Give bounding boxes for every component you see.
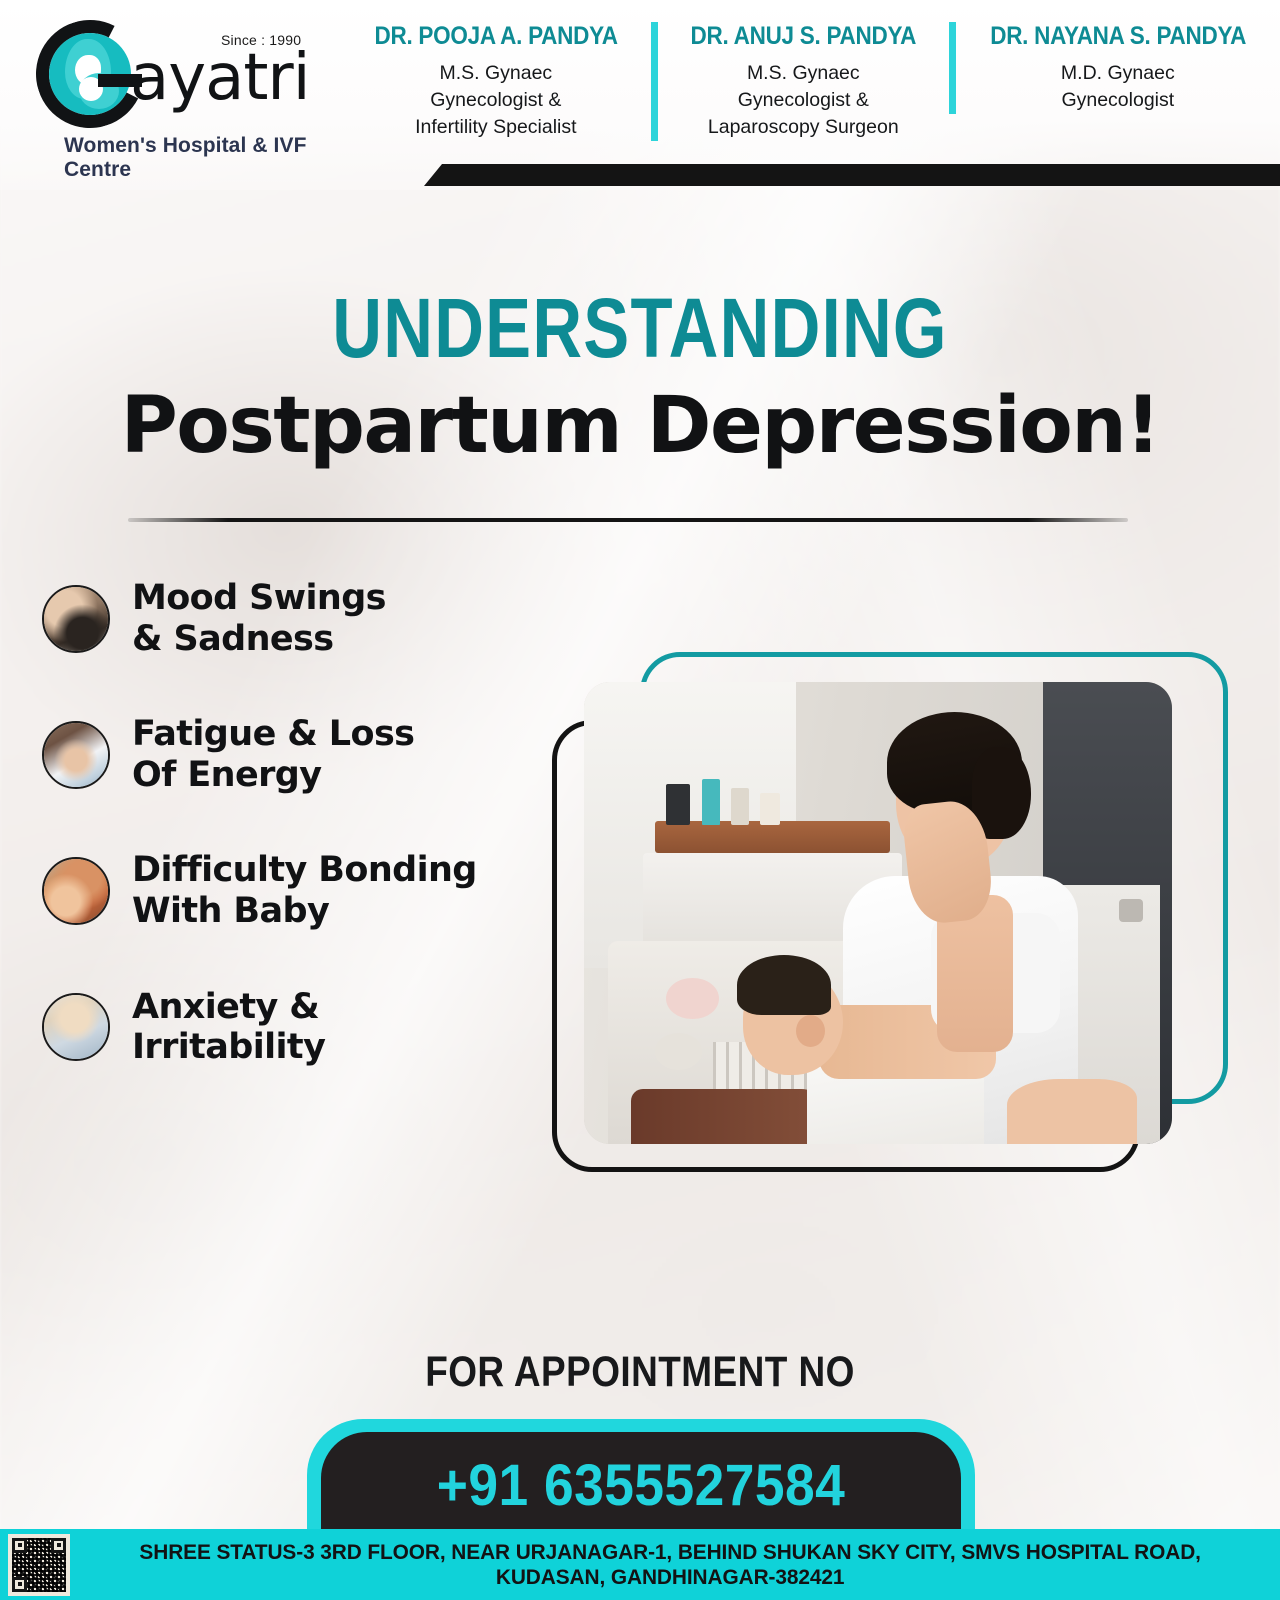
woman-tired-head-in-hands-photo bbox=[42, 721, 110, 789]
exhausted-mother-holding-baby-photo bbox=[584, 682, 1172, 1144]
symptom-list: Mood Swings & Sadness Fatigue & Loss Of … bbox=[42, 578, 582, 1068]
footer-address-bar: SHREE STATUS-3 3RD FLOOR, NEAR URJANAGAR… bbox=[0, 1529, 1280, 1600]
brand-logo: ayatri Since : 1990 Women's Hospital & I… bbox=[0, 0, 327, 186]
doctor-credentials: M.D. Gynaec Gynecologist bbox=[976, 60, 1260, 114]
logo-wordmark: ayatri bbox=[130, 46, 310, 110]
list-item: Mood Swings & Sadness bbox=[42, 578, 582, 659]
logo-mark-row: ayatri Since : 1990 bbox=[26, 14, 327, 132]
doctor-credentials: M.S. Gynaec Gynecologist & Laparoscopy S… bbox=[678, 60, 929, 141]
appointment-label: FOR APPOINTMENT NO bbox=[90, 1348, 1191, 1397]
doctor-card-1: DR. POOJA A. PANDYA M.S. Gynaec Gynecolo… bbox=[341, 22, 651, 141]
doctor-card-3: DR. NAYANA S. PANDYA M.D. Gynaec Gynecol… bbox=[949, 22, 1280, 114]
symptom-label: Difficulty Bonding With Baby bbox=[132, 850, 477, 931]
phone-number-text: +91 6355527584 bbox=[437, 1452, 846, 1519]
hero-photo-frame bbox=[548, 652, 1238, 1172]
title-line-2: Postpartum Depression! bbox=[0, 386, 1280, 467]
symptom-label: Anxiety & Irritability bbox=[132, 987, 325, 1068]
doctor-name: DR. POOJA A. PANDYA bbox=[374, 22, 617, 51]
woman-lying-sad-photo bbox=[42, 585, 110, 653]
symptom-label: Fatigue & Loss Of Energy bbox=[132, 714, 414, 795]
list-item: Difficulty Bonding With Baby bbox=[42, 850, 582, 931]
clinic-address: SHREE STATUS-3 3RD FLOOR, NEAR URJANAGAR… bbox=[88, 1540, 1262, 1590]
list-item: Fatigue & Loss Of Energy bbox=[42, 714, 582, 795]
doctor-list: DR. POOJA A. PANDYA M.S. Gynaec Gynecolo… bbox=[341, 0, 1280, 141]
qr-code-icon[interactable] bbox=[8, 1534, 70, 1596]
doctor-name: DR. ANUJ S. PANDYA bbox=[691, 22, 917, 51]
mother-holding-baby-photo bbox=[42, 857, 110, 925]
woman-anxious-photo bbox=[42, 993, 110, 1061]
logo-since-label: Since : 1990 bbox=[221, 32, 301, 48]
phone-number-pill[interactable]: +91 6355527584 bbox=[307, 1419, 975, 1531]
doctor-credentials: M.S. Gynaec Gynecologist & Infertility S… bbox=[361, 60, 631, 141]
doctor-name: DR. NAYANA S. PANDYA bbox=[990, 22, 1246, 51]
mother-and-baby-icon bbox=[36, 20, 144, 128]
poster-root: ayatri Since : 1990 Women's Hospital & I… bbox=[0, 0, 1280, 1600]
phone-number-inner: +91 6355527584 bbox=[321, 1432, 961, 1531]
symptom-label: Mood Swings & Sadness bbox=[132, 578, 386, 659]
title-divider bbox=[128, 518, 1128, 522]
doctor-card-2: DR. ANUJ S. PANDYA M.S. Gynaec Gynecolog… bbox=[651, 22, 949, 141]
list-item: Anxiety & Irritability bbox=[42, 987, 582, 1068]
title-line-1: UNDERSTANDING bbox=[115, 286, 1165, 372]
logo-tagline: Women's Hospital & IVF Centre bbox=[64, 134, 327, 182]
header: ayatri Since : 1990 Women's Hospital & I… bbox=[0, 0, 1280, 186]
title-block: UNDERSTANDING Postpartum Depression! bbox=[0, 286, 1280, 467]
